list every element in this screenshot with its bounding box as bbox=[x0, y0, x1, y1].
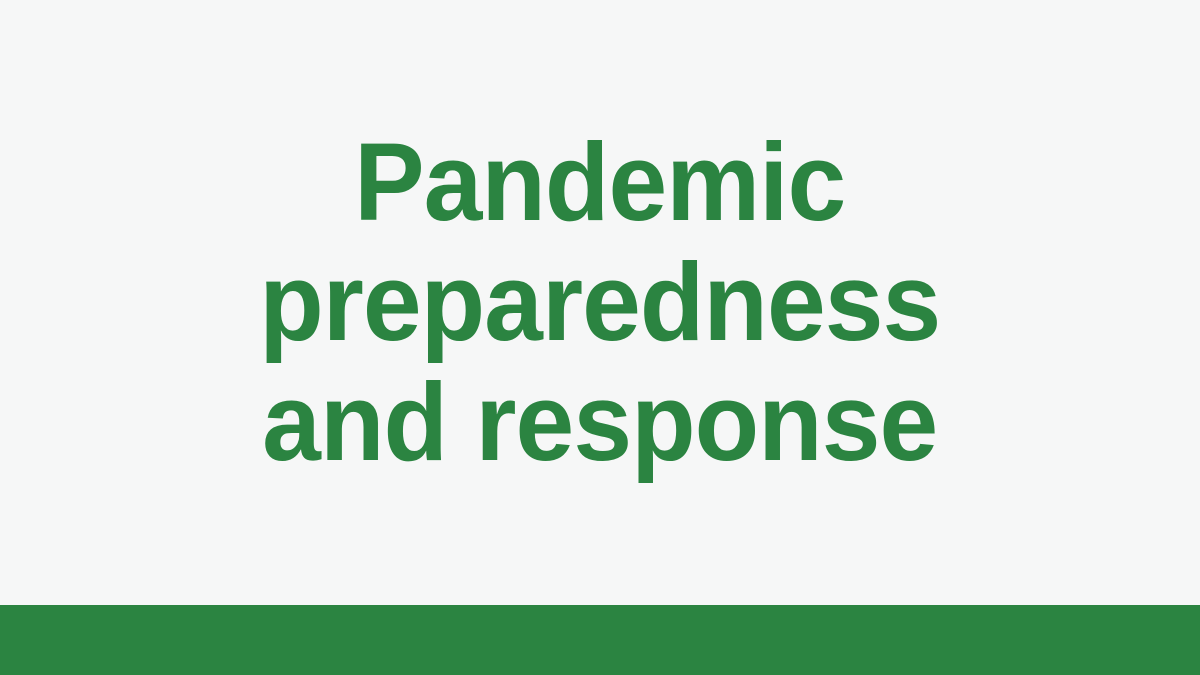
page-title: Pandemic preparedness and response bbox=[259, 123, 940, 483]
title-line-2: preparedness bbox=[259, 243, 940, 363]
footer-accent-bar bbox=[0, 605, 1200, 675]
title-line-3: and response bbox=[259, 363, 940, 483]
title-line-1: Pandemic bbox=[259, 123, 940, 243]
slide-title-block: Pandemic preparedness and response bbox=[0, 0, 1200, 605]
presentation-slide: Pandemic preparedness and response bbox=[0, 0, 1200, 675]
